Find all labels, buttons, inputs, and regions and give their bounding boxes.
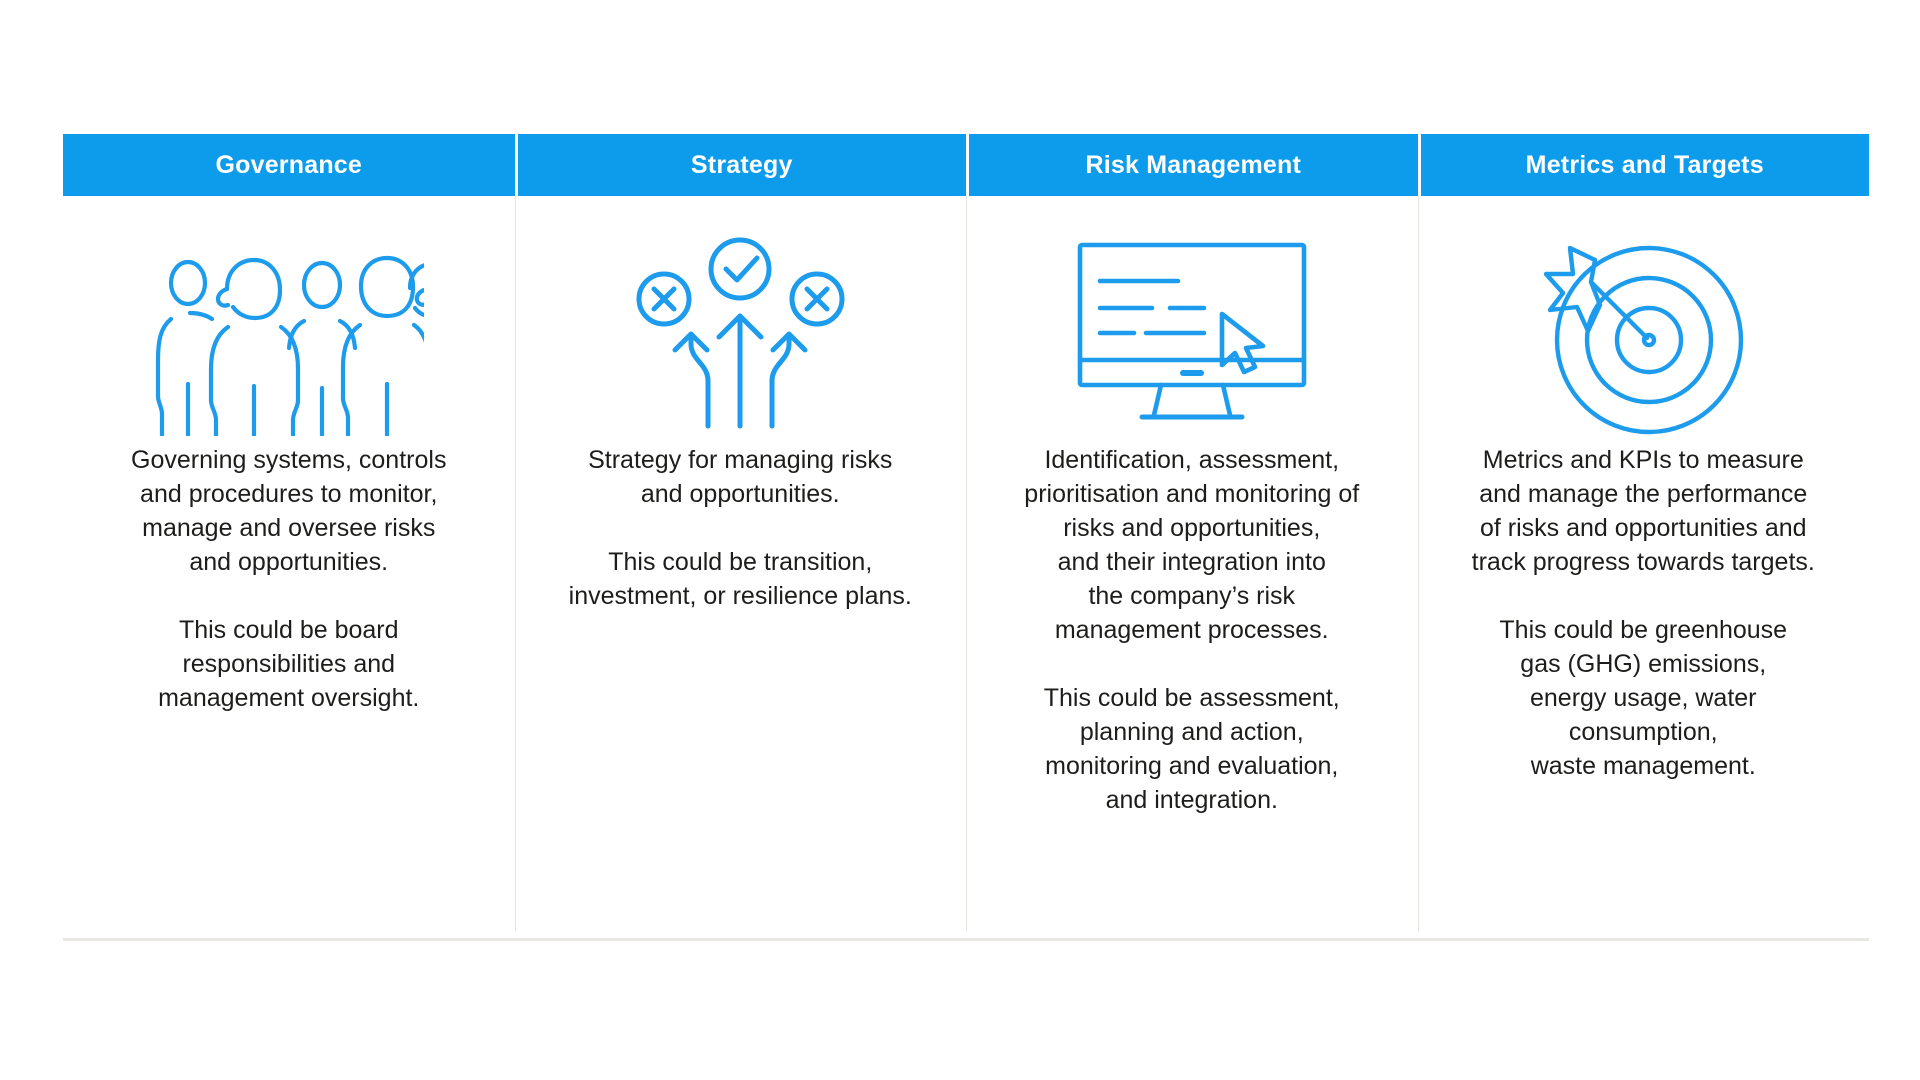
pillar-columns-table: Governance	[63, 134, 1869, 941]
icon-slot-governance	[63, 228, 515, 443]
column-body-strategy: Strategy for managing risks and opportun…	[515, 196, 967, 941]
group-of-people-icon	[154, 236, 424, 436]
column-header-label: Strategy	[691, 151, 793, 180]
target-ring-outer	[1557, 248, 1741, 432]
description-paragraph: Identification, assessment, prioritisati…	[988, 443, 1396, 647]
description-paragraph: This could be assessment, planning and a…	[988, 681, 1396, 817]
column-header-label: Metrics and Targets	[1526, 151, 1764, 180]
column-header-label: Risk Management	[1085, 151, 1301, 180]
icon-slot-risk-management	[966, 228, 1418, 443]
cursor-arrow	[1222, 314, 1263, 372]
column-header-metrics-and-targets: Metrics and Targets	[1418, 134, 1870, 196]
column-header-strategy: Strategy	[515, 134, 967, 196]
description-paragraph: This could be greenhouse gas (GHG) emiss…	[1440, 613, 1848, 783]
column-description-metrics-and-targets: Metrics and KPIs to measure and manage t…	[1418, 443, 1870, 783]
description-paragraph: Governing systems, controls and procedur…	[85, 443, 493, 579]
pillar-column-strategy: Strategy	[515, 134, 967, 941]
icon-slot-strategy	[515, 228, 967, 443]
description-paragraph: Strategy for managing risks and opportun…	[537, 443, 945, 511]
tcfd-pillars-infographic: Governance	[0, 0, 1920, 1080]
pillar-column-metrics-and-targets: Metrics and Targets	[1418, 134, 1870, 941]
description-paragraph: Metrics and KPIs to measure and manage t…	[1440, 443, 1848, 579]
column-body-governance: Governing systems, controls and procedur…	[63, 196, 515, 941]
column-header-governance: Governance	[63, 134, 515, 196]
column-header-label: Governance	[215, 151, 362, 180]
column-description-governance: Governing systems, controls and procedur…	[63, 443, 515, 715]
pillar-column-governance: Governance	[63, 134, 515, 941]
column-body-metrics-and-targets: Metrics and KPIs to measure and manage t…	[1418, 196, 1870, 941]
description-paragraph: This could be transition, investment, or…	[537, 545, 945, 613]
monitor-frame	[1080, 245, 1304, 385]
column-description-risk-management: Identification, assessment, prioritisati…	[966, 443, 1418, 817]
check-circle	[711, 240, 769, 298]
column-body-risk-management: Identification, assessment, prioritisati…	[966, 196, 1418, 941]
pillar-column-risk-management: Risk Management	[966, 134, 1418, 941]
icon-slot-metrics-and-targets	[1418, 228, 1870, 443]
column-description-strategy: Strategy for managing risks and opportun…	[515, 443, 967, 613]
branching-arrows-decision-icon	[633, 236, 848, 436]
target-with-arrow-icon	[1539, 236, 1747, 436]
column-header-risk-management: Risk Management	[966, 134, 1418, 196]
monitor-with-cursor-icon	[1076, 241, 1308, 431]
description-paragraph: This could be board responsibilities and…	[85, 613, 493, 715]
